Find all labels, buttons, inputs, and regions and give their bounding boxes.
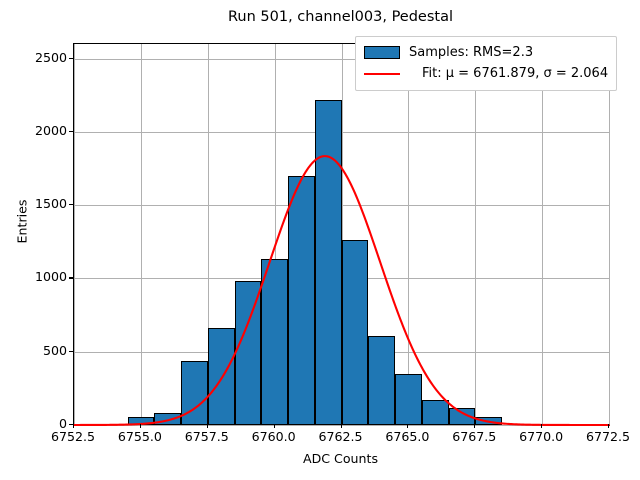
- fit-path: [74, 156, 609, 425]
- x-tick-label: 6765.0: [372, 429, 442, 444]
- x-tick-label: 6752.5: [38, 429, 108, 444]
- y-tick-mark: [69, 351, 73, 352]
- x-tick-mark: [73, 424, 74, 428]
- x-axis-label: ADC Counts: [73, 451, 608, 466]
- y-tick-mark: [69, 131, 73, 132]
- x-tick-mark: [207, 424, 208, 428]
- x-tick-label: 6772.5: [573, 429, 640, 444]
- y-tick-label: 0: [7, 416, 67, 431]
- chart-title: Run 501, channel003, Pedestal: [73, 8, 608, 26]
- y-tick-label: 2500: [7, 50, 67, 65]
- y-tick-mark: [69, 204, 73, 205]
- legend-item-samples: Samples: RMS=2.3: [364, 42, 608, 63]
- plot-area: [73, 43, 610, 426]
- legend-line-swatch-icon: [364, 73, 400, 75]
- chart-legend: Samples: RMS=2.3 Fit: μ = 6761.879, σ = …: [355, 36, 617, 91]
- y-axis-label: Entries: [15, 122, 30, 322]
- x-tick-mark: [541, 424, 542, 428]
- x-tick-label: 6755.0: [105, 429, 175, 444]
- x-tick-label: 6767.5: [439, 429, 509, 444]
- legend-label-fit: Fit: μ = 6761.879, σ = 2.064: [409, 66, 608, 81]
- legend-patch-swatch-icon: [364, 46, 400, 59]
- x-tick-label: 6770.0: [506, 429, 576, 444]
- x-tick-mark: [608, 424, 609, 428]
- y-tick-label: 500: [7, 343, 67, 358]
- y-tick-mark: [69, 424, 73, 425]
- x-tick-mark: [274, 424, 275, 428]
- y-tick-mark: [69, 277, 73, 278]
- x-tick-label: 6762.5: [306, 429, 376, 444]
- x-tick-mark: [474, 424, 475, 428]
- figure-canvas: Run 501, channel003, Pedestal 6752.56755…: [0, 0, 640, 480]
- x-tick-mark: [140, 424, 141, 428]
- x-tick-mark: [407, 424, 408, 428]
- legend-label-samples: Samples: RMS=2.3: [409, 45, 533, 60]
- x-tick-mark: [341, 424, 342, 428]
- y-tick-mark: [69, 58, 73, 59]
- x-tick-label: 6757.5: [172, 429, 242, 444]
- x-tick-label: 6760.0: [239, 429, 309, 444]
- gridline-vertical: [609, 44, 610, 425]
- legend-item-fit: Fit: μ = 6761.879, σ = 2.064: [364, 63, 608, 84]
- gaussian-fit-curve: [74, 44, 609, 425]
